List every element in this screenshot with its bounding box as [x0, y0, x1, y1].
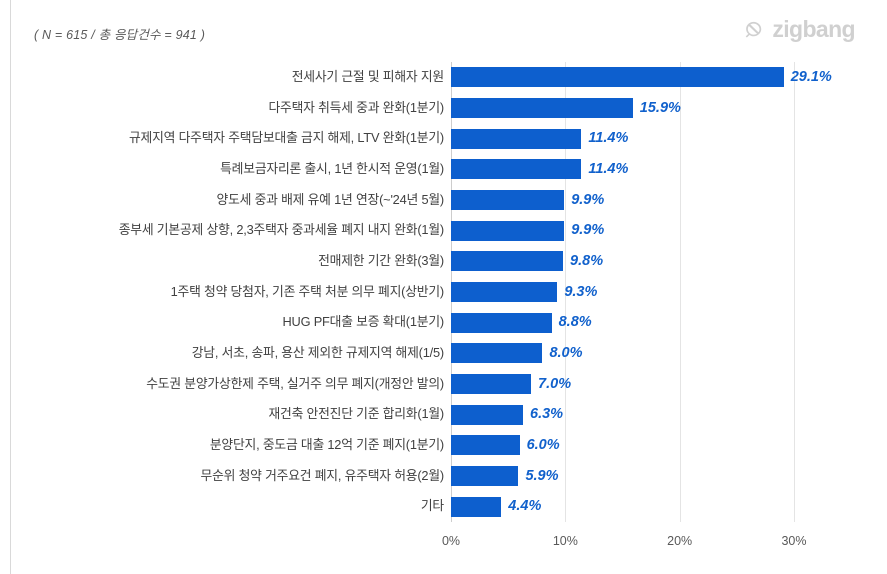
category-label: 양도세 중과 배제 유예 1년 연장(~'24년 5월) — [14, 185, 444, 216]
bar-row: 무순위 청약 거주요건 폐지, 유주택자 허용(2월)5.9% — [0, 461, 887, 492]
category-label: 기타 — [14, 491, 444, 522]
bar-value-label: 5.9% — [525, 469, 558, 484]
category-label: 전매제한 기간 완화(3월) — [14, 246, 444, 277]
bar[interactable] — [451, 282, 557, 302]
bar-row: 종부세 기본공제 상향, 2,3주택자 중과세율 폐지 내지 완화(1월)9.9… — [0, 215, 887, 246]
bar-value-label: 11.4% — [588, 131, 628, 146]
bar-value-label: 8.0% — [549, 346, 582, 361]
x-tick-label: 0% — [442, 534, 460, 548]
bar[interactable] — [451, 374, 531, 394]
bar-value-label: 9.3% — [564, 285, 597, 300]
bar-row: 전세사기 근절 및 피해자 지원29.1% — [0, 62, 887, 93]
bar-value-label: 15.9% — [640, 101, 681, 116]
x-tick-label: 30% — [781, 534, 806, 548]
category-label: 다주택자 취득세 중과 완화(1분기) — [14, 93, 444, 124]
bar-and-value: 29.1% — [451, 67, 832, 87]
bar[interactable] — [451, 313, 552, 333]
bar-and-value: 6.0% — [451, 435, 560, 455]
bar-value-label: 7.0% — [538, 377, 571, 392]
bar-and-value: 11.4% — [451, 129, 628, 149]
bar-value-label: 6.3% — [530, 407, 563, 422]
bar-value-label: 9.8% — [570, 254, 603, 269]
bar-and-value: 15.9% — [451, 98, 681, 118]
bar-row: 전매제한 기간 완화(3월)9.8% — [0, 246, 887, 277]
bar[interactable] — [451, 190, 564, 210]
bar[interactable] — [451, 466, 518, 486]
bar[interactable] — [451, 129, 581, 149]
bar-value-label: 6.0% — [527, 438, 560, 453]
bar-and-value: 6.3% — [451, 405, 563, 425]
x-tick-label: 10% — [553, 534, 578, 548]
category-label: 특례보금자리론 출시, 1년 한시적 운영(1월) — [14, 154, 444, 185]
category-label: 규제지역 다주택자 주택담보대출 금지 해제, LTV 완화(1분기) — [14, 123, 444, 154]
bar-row: 1주택 청약 당첨자, 기존 주택 처분 의무 폐지(상반기)9.3% — [0, 277, 887, 308]
bar-row: HUG PF대출 보증 확대(1분기)8.8% — [0, 307, 887, 338]
category-label: 종부세 기본공제 상향, 2,3주택자 중과세율 폐지 내지 완화(1월) — [14, 215, 444, 246]
bar[interactable] — [451, 221, 564, 241]
bar-value-label: 29.1% — [791, 70, 832, 85]
bar-and-value: 4.4% — [451, 497, 541, 517]
bar-row: 특례보금자리론 출시, 1년 한시적 운영(1월)11.4% — [0, 154, 887, 185]
category-label: 재건축 안전진단 기준 합리화(1월) — [14, 399, 444, 430]
bar-and-value: 9.3% — [451, 282, 597, 302]
bar-and-value: 8.0% — [451, 343, 583, 363]
x-axis-tick-labels: 0%10%20%30% — [451, 534, 794, 554]
bar[interactable] — [451, 435, 520, 455]
bar[interactable] — [451, 497, 501, 517]
bar-value-label: 11.4% — [588, 162, 628, 177]
bar-and-value: 9.9% — [451, 190, 604, 210]
bar-row: 기타4.4% — [0, 491, 887, 522]
bar-row: 규제지역 다주택자 주택담보대출 금지 해제, LTV 완화(1분기)11.4% — [0, 123, 887, 154]
bar-and-value: 9.9% — [451, 221, 604, 241]
bar-row: 수도권 분양가상한제 주택, 실거주 의무 폐지(개정안 발의)7.0% — [0, 369, 887, 400]
bar-row: 재건축 안전진단 기준 합리화(1월)6.3% — [0, 399, 887, 430]
x-tick-label: 20% — [667, 534, 692, 548]
bar[interactable] — [451, 98, 633, 118]
bar-value-label: 4.4% — [508, 499, 541, 514]
bar-value-label: 9.9% — [571, 193, 604, 208]
category-label: 강남, 서초, 송파, 용산 제외한 규제지역 해제(1/5) — [14, 338, 444, 369]
bar-row: 강남, 서초, 송파, 용산 제외한 규제지역 해제(1/5)8.0% — [0, 338, 887, 369]
category-label: 분양단지, 중도금 대출 12억 기준 폐지(1분기) — [14, 430, 444, 461]
bar-row: 양도세 중과 배제 유예 1년 연장(~'24년 5월)9.9% — [0, 185, 887, 216]
category-label: HUG PF대출 보증 확대(1분기) — [14, 307, 444, 338]
category-label: 수도권 분양가상한제 주택, 실거주 의무 폐지(개정안 발의) — [14, 369, 444, 400]
bar-and-value: 11.4% — [451, 159, 628, 179]
bar-value-label: 9.9% — [571, 223, 604, 238]
bar-value-label: 8.8% — [559, 315, 592, 330]
bar-and-value: 8.8% — [451, 313, 592, 333]
bar-row: 분양단지, 중도금 대출 12억 기준 폐지(1분기)6.0% — [0, 430, 887, 461]
bar[interactable] — [451, 405, 523, 425]
category-label: 무순위 청약 거주요건 폐지, 유주택자 허용(2월) — [14, 461, 444, 492]
category-label: 1주택 청약 당첨자, 기존 주택 처분 의무 폐지(상반기) — [14, 277, 444, 308]
category-label: 전세사기 근절 및 피해자 지원 — [14, 62, 444, 93]
bar-chart: 0%10%20%30% 전세사기 근절 및 피해자 지원29.1%다주택자 취득… — [0, 0, 887, 574]
bar[interactable] — [451, 251, 563, 271]
bar-and-value: 9.8% — [451, 251, 603, 271]
bar[interactable] — [451, 159, 581, 179]
bar-and-value: 7.0% — [451, 374, 571, 394]
bar[interactable] — [451, 67, 784, 87]
bar[interactable] — [451, 343, 542, 363]
bar-and-value: 5.9% — [451, 466, 559, 486]
bar-row: 다주택자 취득세 중과 완화(1분기)15.9% — [0, 93, 887, 124]
